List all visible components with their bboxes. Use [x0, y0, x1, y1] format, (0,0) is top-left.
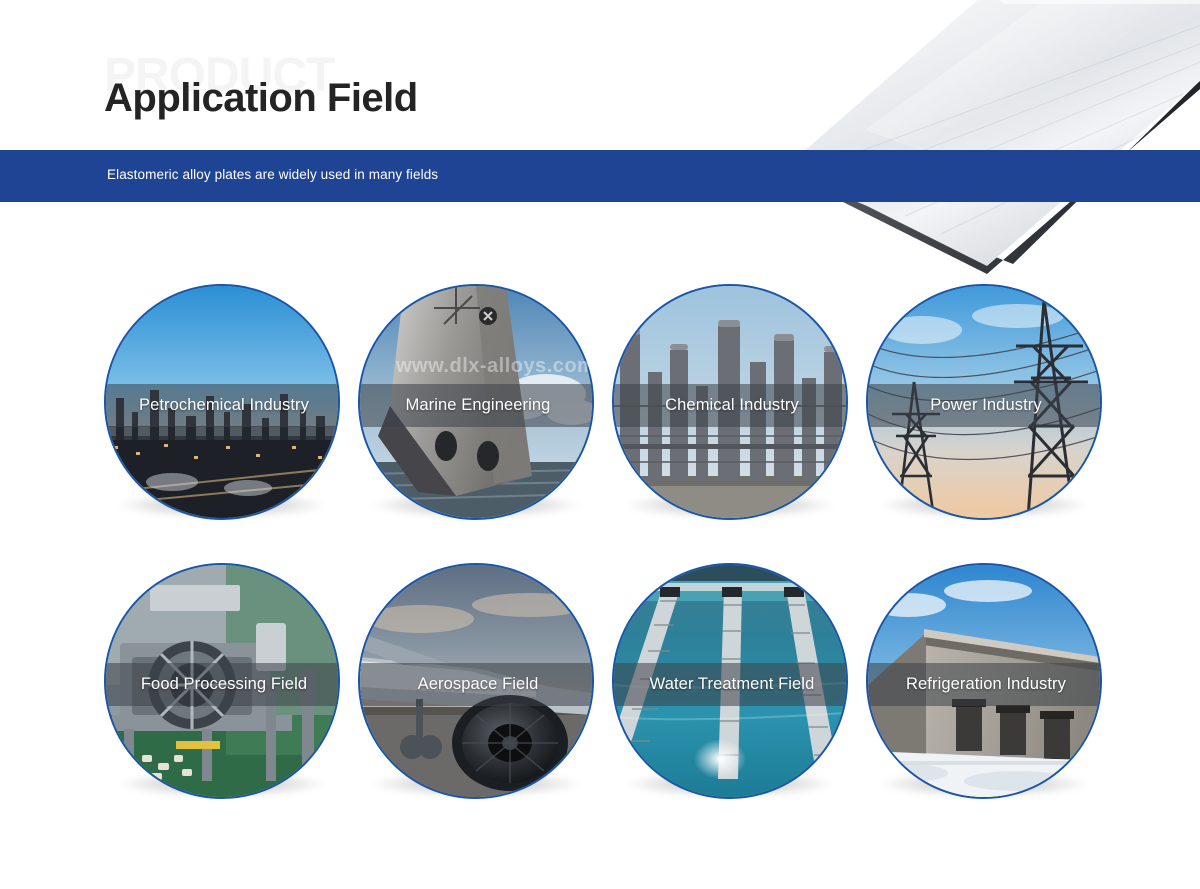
field-label: Marine Engineering	[406, 396, 551, 415]
field-label: Aerospace Field	[418, 675, 539, 694]
card-circle: Chemical Industry	[612, 284, 848, 520]
card-label-band: Power Industry	[868, 384, 1102, 427]
field-label: Power Industry	[930, 396, 1041, 415]
card-label-band: Aerospace Field	[360, 663, 594, 706]
field-card-power-industry[interactable]: Power Industry	[866, 284, 1102, 520]
card-circle: Refrigeration Industry	[866, 563, 1102, 799]
field-card-aerospace-field[interactable]: Aerospace Field	[358, 563, 594, 799]
card-circle: Water Treatment Field	[612, 563, 848, 799]
card-label-band: Chemical Industry	[614, 384, 848, 427]
application-field-grid: Petrochemical Industry	[0, 0, 1200, 889]
field-label: Refrigeration Industry	[906, 675, 1066, 694]
field-label: Water Treatment Field	[650, 675, 815, 694]
card-label-band: Marine Engineering	[360, 384, 594, 427]
card-circle: Marine Engineering	[358, 284, 594, 520]
field-card-refrigeration-industry[interactable]: Refrigeration Industry	[866, 563, 1102, 799]
field-card-water-treatment-field[interactable]: Water Treatment Field	[612, 563, 848, 799]
card-circle: Petrochemical Industry	[104, 284, 340, 520]
field-card-chemical-industry[interactable]: Chemical Industry	[612, 284, 848, 520]
card-label-band: Water Treatment Field	[614, 663, 848, 706]
card-circle: Aerospace Field	[358, 563, 594, 799]
field-card-petrochemical-industry[interactable]: Petrochemical Industry	[104, 284, 340, 520]
card-label-band: Refrigeration Industry	[868, 663, 1102, 706]
card-label-band: Food Processing Field	[106, 663, 340, 706]
application-field-page: PRODUCT Application Field	[0, 0, 1200, 889]
field-label: Petrochemical Industry	[139, 396, 309, 415]
card-circle: Power Industry	[866, 284, 1102, 520]
card-label-band: Petrochemical Industry	[106, 384, 340, 427]
field-label: Food Processing Field	[141, 675, 307, 694]
field-card-food-processing-field[interactable]: Food Processing Field	[104, 563, 340, 799]
field-card-marine-engineering[interactable]: Marine Engineering	[358, 284, 594, 520]
card-circle: Food Processing Field	[104, 563, 340, 799]
field-label: Chemical Industry	[665, 396, 799, 415]
